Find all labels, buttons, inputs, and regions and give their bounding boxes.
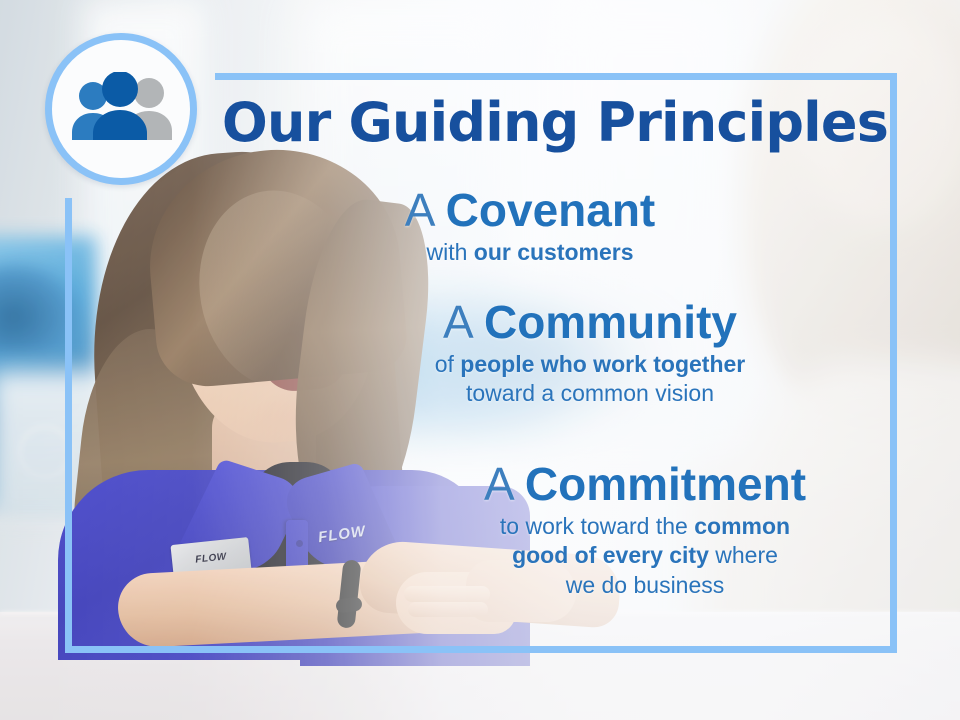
sub-span: with — [426, 239, 473, 265]
principle-commitment-sub-line-2: good of every city where — [390, 541, 900, 570]
principle-covenant-lead: A — [405, 184, 433, 236]
guiding-principles-graphic: FLOW FLOW Our — [0, 0, 960, 720]
sub-span: we do business — [566, 572, 725, 598]
principle-covenant-key: Covenant — [446, 184, 656, 236]
principle-community-key: Community — [484, 296, 737, 348]
principle-community-sub-line-1: of people who work together — [340, 350, 840, 379]
principles-list: A Covenant with our customers A Communit… — [0, 0, 960, 720]
principle-commitment-key: Commitment — [525, 458, 806, 510]
sub-span: toward a common vision — [466, 380, 714, 406]
sub-span-bold: people who work together — [460, 351, 745, 377]
principle-community-sub-line-2: toward a common vision — [340, 379, 840, 408]
principle-covenant-sub: with our customers — [300, 238, 760, 267]
principle-covenant-heading: A Covenant — [300, 186, 760, 236]
sub-span-bold: good of every city — [512, 542, 709, 568]
principle-community-lead: A — [443, 296, 471, 348]
principle-community-sub: of people who work together toward a com… — [340, 350, 840, 409]
principle-covenant-sub-line-1: with our customers — [300, 238, 760, 267]
principle-commitment: A Commitment to work toward the common g… — [390, 460, 900, 600]
principle-community-heading: A Community — [340, 298, 840, 348]
principle-commitment-sub-line-1: to work toward the common — [390, 512, 900, 541]
principle-commitment-heading: A Commitment — [390, 460, 900, 510]
principle-commitment-sub-line-3: we do business — [390, 571, 900, 600]
sub-span: of — [435, 351, 461, 377]
sub-span-bold: our customers — [474, 239, 634, 265]
principle-commitment-lead: A — [484, 458, 512, 510]
sub-span: where — [709, 542, 778, 568]
sub-span-bold: common — [694, 513, 790, 539]
principle-commitment-sub: to work toward the common good of every … — [390, 512, 900, 600]
sub-span: to work toward the — [500, 513, 694, 539]
principle-covenant: A Covenant with our customers — [300, 186, 760, 267]
principle-community: A Community of people who work together … — [340, 298, 840, 409]
